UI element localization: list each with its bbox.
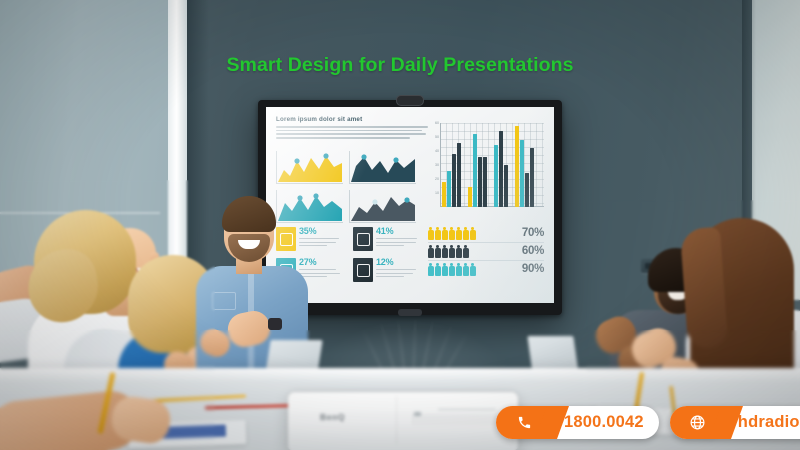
display-logo	[398, 309, 422, 316]
person-icon	[456, 245, 462, 258]
pictogram-row: 60%	[428, 245, 544, 258]
globe-icon	[670, 406, 726, 439]
person-icons	[428, 245, 469, 258]
chart-bar	[515, 126, 519, 207]
person-icon	[428, 227, 434, 240]
person-icon	[435, 245, 441, 258]
person-icon	[442, 245, 448, 258]
contact-badges: 1800.0042 hdradio.vn	[496, 406, 800, 439]
chart-bar	[530, 148, 534, 207]
divider	[428, 242, 544, 243]
area-chart-grid	[276, 151, 416, 223]
pictogram-value: 60%	[522, 246, 544, 258]
stat-value: 12%	[376, 258, 416, 267]
area-chart-teal	[276, 190, 343, 223]
display-screen: Lorem ipsum dolor sit amet	[266, 107, 554, 303]
projector-device: BenQ	[288, 392, 518, 450]
area-chart-slate	[349, 190, 416, 223]
chart-y-axis	[440, 123, 441, 207]
chart-bar	[473, 134, 477, 207]
camera-icon	[396, 95, 424, 106]
presentation-slide: Lorem ipsum dolor sit amet	[266, 107, 554, 303]
chart-bar	[442, 182, 446, 207]
pictogram-row: 90%	[428, 263, 544, 276]
chart-bars	[442, 123, 542, 207]
chart-bar	[457, 143, 461, 207]
phone-number: 1800.0042	[552, 413, 659, 432]
person-icon	[463, 263, 469, 276]
y-tick: 30	[428, 164, 439, 168]
projector-vent	[413, 414, 499, 425]
bar-chart: 60 50 40 30 20 10	[428, 123, 544, 219]
person-icon	[442, 263, 448, 276]
person-icon	[428, 245, 434, 258]
person-icons	[428, 263, 476, 276]
area-chart-navy	[349, 151, 416, 184]
slide-title: Lorem ipsum dolor sit amet	[276, 116, 544, 123]
person-icon	[449, 263, 455, 276]
stat-item: 41%	[353, 227, 424, 251]
phone-icon	[496, 406, 552, 439]
stat-item: 12%	[353, 258, 424, 282]
document-icon	[276, 227, 296, 251]
chart-bar	[494, 145, 498, 207]
slide-body-text	[276, 126, 428, 139]
y-tick: 40	[428, 150, 439, 154]
person-icon	[456, 263, 462, 276]
chart-bar	[483, 157, 487, 207]
person-icons	[428, 227, 476, 240]
person-icon	[456, 227, 462, 240]
projector-brand-label: BenQ	[320, 412, 345, 422]
pictogram-row: 70%	[428, 227, 544, 240]
person-icon	[463, 227, 469, 240]
chart-bar	[520, 140, 524, 207]
y-tick: 10	[428, 192, 439, 196]
stat-item: 35%	[276, 227, 347, 251]
person-icon	[449, 245, 455, 258]
person-icon	[463, 245, 469, 258]
pictogram-value: 70%	[522, 228, 544, 240]
pictogram-block: 70% 60%	[428, 227, 544, 278]
person-icon	[442, 227, 448, 240]
person-icon	[435, 227, 441, 240]
phone-badge[interactable]: 1800.0042	[496, 406, 659, 439]
website-badge[interactable]: hdradio.vn	[670, 406, 800, 439]
area-chart-yellow	[276, 151, 343, 184]
stat-value: 41%	[376, 227, 417, 236]
chart-bar	[478, 157, 482, 207]
chart-bar	[525, 173, 529, 207]
chart-bar	[504, 165, 508, 207]
stat-value: 35%	[299, 227, 339, 236]
y-tick: 50	[428, 136, 439, 140]
chart-bar	[499, 131, 503, 207]
screenshot-root: Lorem ipsum dolor sit amet	[0, 0, 800, 450]
person-icon	[449, 227, 455, 240]
person-icon	[470, 227, 476, 240]
monitor-icon	[353, 227, 373, 251]
person-icon	[435, 263, 441, 276]
page-title: Smart Design for Daily Presentations	[0, 54, 800, 77]
chart-bar	[452, 154, 456, 207]
y-tick: 20	[428, 178, 439, 182]
person-icon	[428, 263, 434, 276]
mobile-icon	[353, 258, 373, 282]
pictogram-value: 90%	[522, 264, 544, 276]
chart-bar	[447, 171, 451, 207]
divider	[428, 260, 544, 261]
stat-value: 27%	[299, 258, 340, 267]
chart-bar	[468, 187, 472, 207]
person-icon	[470, 263, 476, 276]
y-tick: 60	[428, 122, 439, 126]
